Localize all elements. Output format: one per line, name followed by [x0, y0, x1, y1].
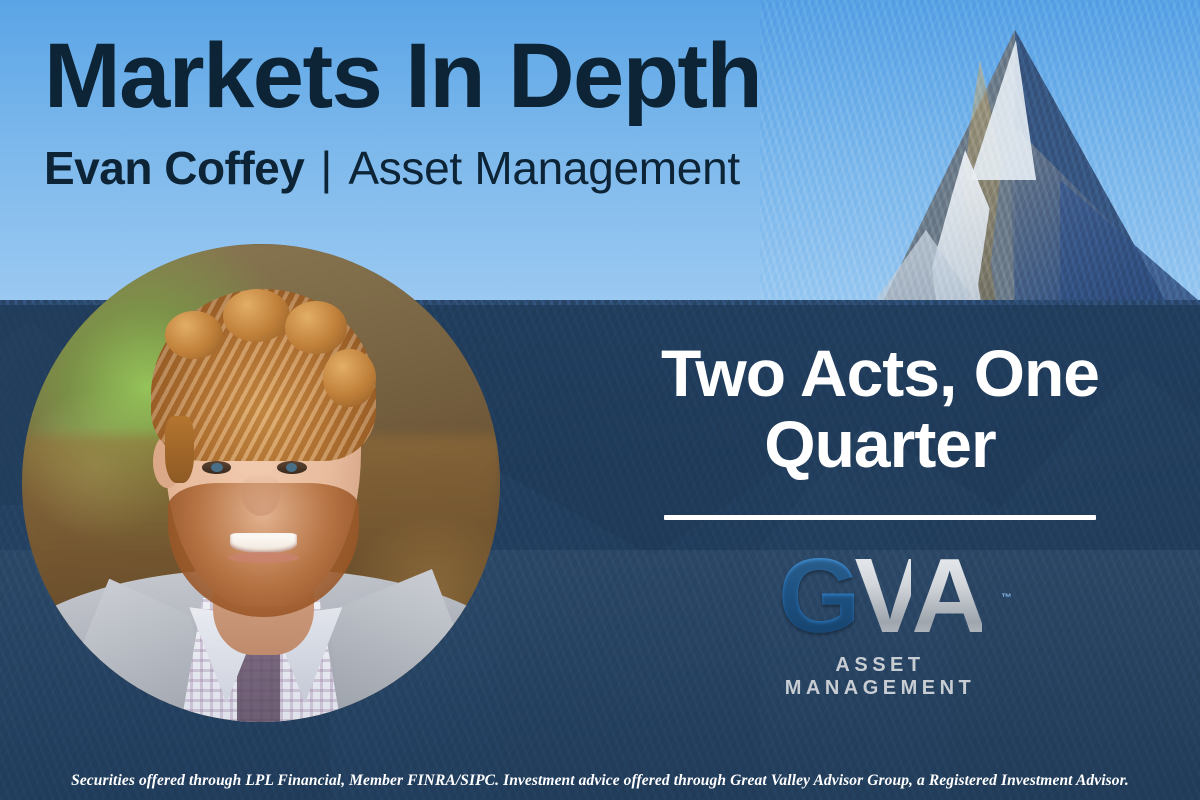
byline: Evan Coffey | Asset Management — [44, 144, 740, 192]
portrait-sideburn — [165, 416, 194, 483]
gva-logo: GVA ™ ASSET MANAGEMENT — [740, 548, 1020, 700]
portrait-hair-curl-d — [323, 349, 376, 406]
disclaimer-text: Securities offered through LPL Financial… — [0, 772, 1200, 790]
byline-separator: | — [320, 144, 332, 192]
logo-tagline: ASSET MANAGEMENT — [740, 654, 1020, 700]
divider-rule — [664, 515, 1096, 520]
portrait-hair-curl-a — [165, 311, 222, 359]
portrait-hair-curl-b — [223, 289, 290, 342]
logo-letter-v: V — [855, 537, 912, 655]
avatar — [22, 244, 500, 722]
department-label: Asset Management — [348, 144, 740, 192]
marketing-banner: Markets In Depth Evan Coffey | Asset Man… — [0, 0, 1200, 800]
trademark-icon: ™ — [1001, 550, 1012, 646]
portrait-mouth — [230, 533, 297, 553]
headline-block: Two Acts, One Quarter GVA ™ ASSET MANAGE… — [580, 320, 1180, 740]
logo-letter-a: A — [911, 537, 982, 655]
page-title: Markets In Depth — [44, 30, 761, 124]
portrait-hair-curl-c — [285, 301, 347, 354]
article-title: Two Acts, One Quarter — [580, 338, 1180, 481]
author-name: Evan Coffey — [44, 144, 304, 192]
logo-letter-g: G — [778, 537, 854, 655]
gva-logo-mark: GVA ™ — [740, 548, 1020, 644]
